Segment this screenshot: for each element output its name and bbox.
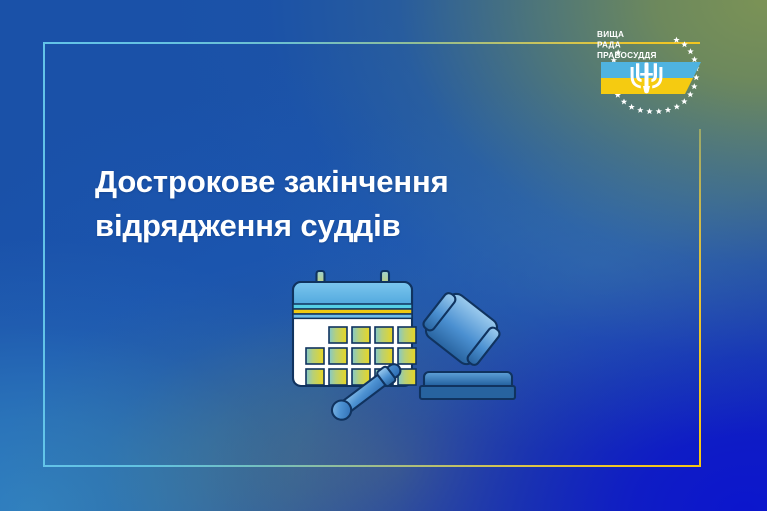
calendar-and-gavel-illustration <box>283 266 533 421</box>
logo-line-3: ПРАВОСУДДЯ <box>597 51 657 60</box>
logo-line-2: РАДА <box>597 41 621 50</box>
ukraine-flag-shape <box>601 62 701 94</box>
logo-line-1: ВИЩА <box>597 30 624 39</box>
banner-root: Дострокове закінчення відрядження суддів <box>0 0 767 511</box>
page-title: Дострокове закінчення відрядження суддів <box>95 160 565 248</box>
high-council-of-justice-logo: ВИЩА РАДА ПРАВОСУДДЯ <box>583 18 723 143</box>
